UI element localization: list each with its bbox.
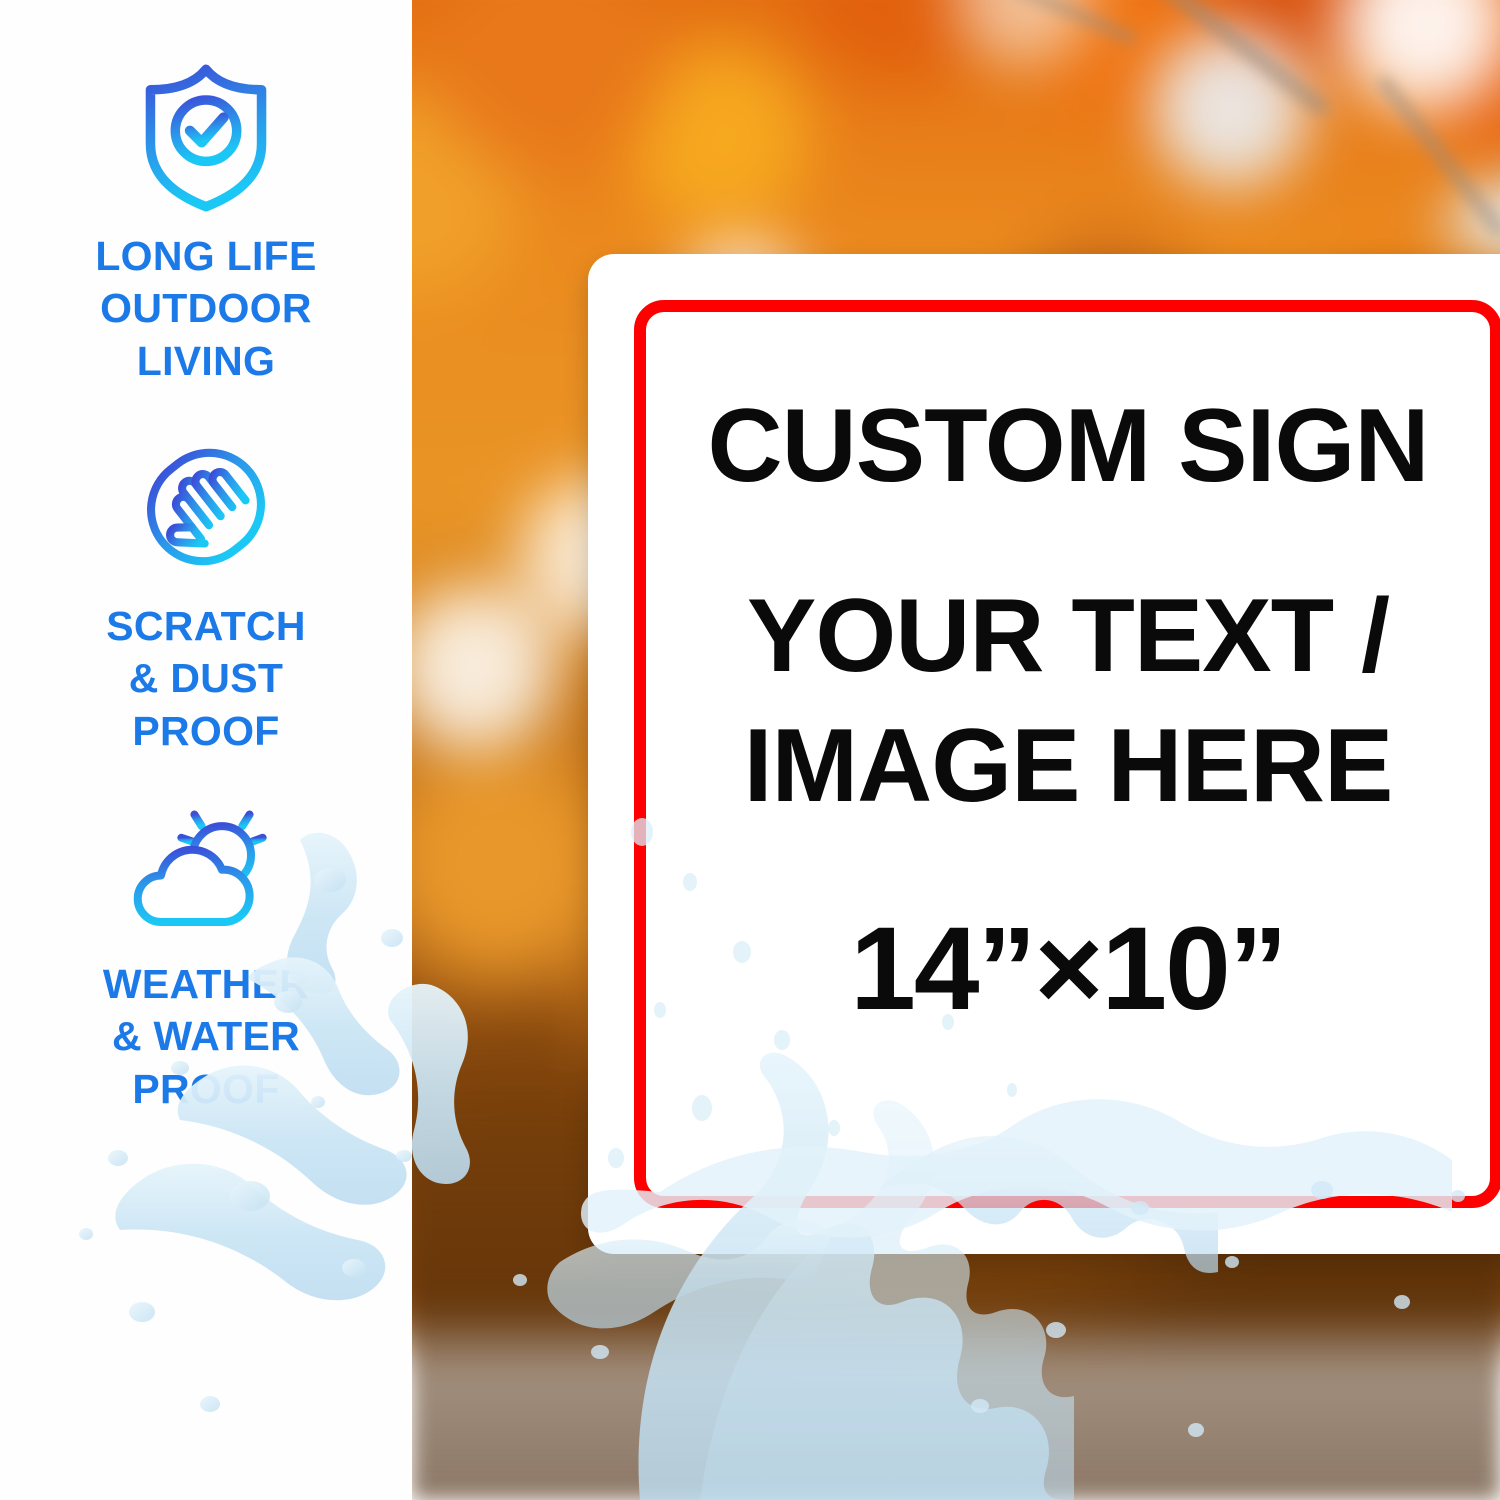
shield-check-icon (131, 62, 281, 214)
feature-label: LONG LIFE OUTDOOR LIVING (95, 230, 316, 387)
feature-label: SCRATCH & DUST PROOF (106, 600, 306, 757)
sign-content: CUSTOM SIGN YOUR TEXT / IMAGE HERE 14”×1… (588, 254, 1500, 1254)
sign-subtitle-line2: IMAGE HERE (744, 714, 1393, 818)
sun-cloud-weather-icon (126, 800, 286, 938)
feature-list-panel: LONG LIFE OUTDOOR LIVING (0, 0, 412, 1500)
feature-item-long-life: LONG LIFE OUTDOOR LIVING (0, 62, 412, 387)
sign-dimensions: 14”×10” (850, 910, 1285, 1028)
custom-sign-mockup: CUSTOM SIGN YOUR TEXT / IMAGE HERE 14”×1… (588, 254, 1500, 1254)
product-feature-graphic: LONG LIFE OUTDOOR LIVING (0, 0, 1500, 1500)
sign-subtitle-line1: YOUR TEXT / (747, 584, 1389, 688)
feature-item-scratch-dust: SCRATCH & DUST PROOF (0, 432, 412, 757)
feature-label: WEATHER & WATER PROOF (103, 958, 309, 1115)
hand-scratch-icon (132, 432, 280, 582)
feature-item-weather-water: WEATHER & WATER PROOF (0, 800, 412, 1115)
sign-title: CUSTOM SIGN (708, 394, 1429, 498)
